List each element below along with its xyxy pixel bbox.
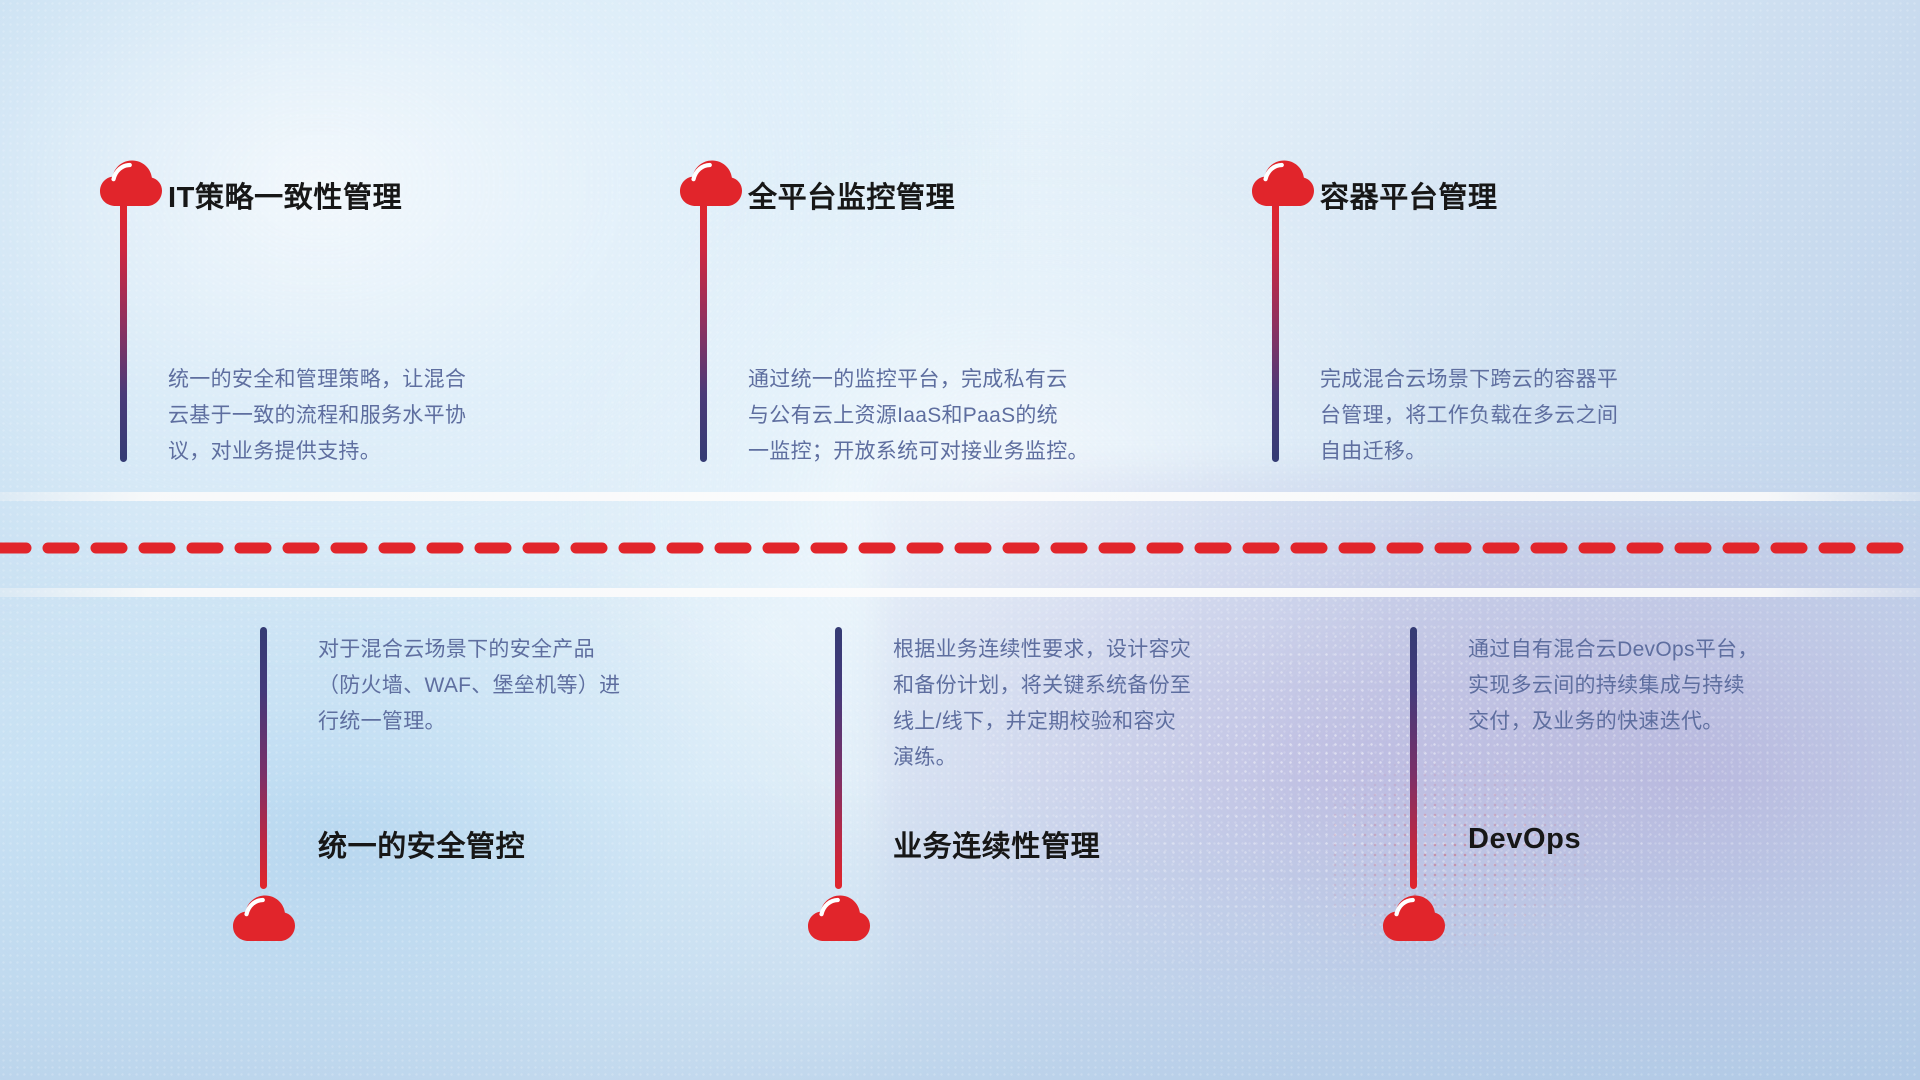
card-heading: 业务连续性管理 xyxy=(893,823,1100,865)
infographic-canvas: IT策略一致性管理 统一的安全和管理策略，让混合 云基于一致的流程和服务水平协 … xyxy=(0,0,1920,1080)
connector-stem xyxy=(260,627,267,889)
body-line: 议，对业务提供支持。 xyxy=(168,434,520,470)
body-line: 交付，及业务的快速迭代。 xyxy=(1468,704,1820,740)
body-line: 和备份计划，将关键系统备份至 xyxy=(893,668,1245,704)
body-line: 与公有云上资源IaaS和PaaS的统 xyxy=(748,398,1100,434)
cloud-icon xyxy=(100,160,162,208)
card-body: 统一的安全和管理策略，让混合 云基于一致的流程和服务水平协 议，对业务提供支持。 xyxy=(168,362,520,470)
body-line: 线上/线下，并定期校验和容灾 xyxy=(893,704,1245,740)
cloud-icon xyxy=(808,895,870,943)
cloud-icon xyxy=(1252,160,1314,208)
body-line: 对于混合云场景下的安全产品 xyxy=(318,632,670,668)
divider-dashed-line xyxy=(0,541,1920,555)
body-line: 完成混合云场景下跨云的容器平 xyxy=(1320,362,1672,398)
card-body: 通过统一的监控平台，完成私有云 与公有云上资源IaaS和PaaS的统 一监控；开… xyxy=(748,362,1100,470)
divider-band-bottom xyxy=(0,588,1920,597)
body-line: 行统一管理。 xyxy=(318,704,670,740)
connector-stem xyxy=(835,627,842,889)
body-line: 实现多云间的持续集成与持续 xyxy=(1468,668,1820,704)
body-line: 云基于一致的流程和服务水平协 xyxy=(168,398,520,434)
cloud-icon xyxy=(680,160,742,208)
card-heading: IT策略一致性管理 xyxy=(168,174,402,216)
connector-stem xyxy=(700,200,707,462)
body-line: 根据业务连续性要求，设计容灾 xyxy=(893,632,1245,668)
body-line: 一监控；开放系统可对接业务监控。 xyxy=(748,434,1100,470)
card-body: 对于混合云场景下的安全产品 （防火墙、WAF、堡垒机等）进 行统一管理。 xyxy=(318,632,670,740)
card-heading: 全平台监控管理 xyxy=(748,174,955,216)
connector-stem xyxy=(120,200,127,462)
body-line: 台管理，将工作负载在多云之间 xyxy=(1320,398,1672,434)
card-heading: DevOps xyxy=(1468,823,1581,856)
card-body: 完成混合云场景下跨云的容器平 台管理，将工作负载在多云之间 自由迁移。 xyxy=(1320,362,1672,470)
card-heading: 统一的安全管控 xyxy=(318,823,525,865)
cloud-icon xyxy=(233,895,295,943)
body-line: 演练。 xyxy=(893,740,1245,776)
card-body: 根据业务连续性要求，设计容灾 和备份计划，将关键系统备份至 线上/线下，并定期校… xyxy=(893,632,1245,776)
body-line: 自由迁移。 xyxy=(1320,434,1672,470)
body-line: 通过统一的监控平台，完成私有云 xyxy=(748,362,1100,398)
body-line: 统一的安全和管理策略，让混合 xyxy=(168,362,520,398)
divider-band-top xyxy=(0,492,1920,501)
body-line: （防火墙、WAF、堡垒机等）进 xyxy=(318,668,670,704)
body-line: 通过自有混合云DevOps平台， xyxy=(1468,632,1820,668)
connector-stem xyxy=(1272,200,1279,462)
connector-stem xyxy=(1410,627,1417,889)
card-body: 通过自有混合云DevOps平台， 实现多云间的持续集成与持续 交付，及业务的快速… xyxy=(1468,632,1820,740)
card-heading: 容器平台管理 xyxy=(1320,174,1498,216)
cloud-icon xyxy=(1383,895,1445,943)
